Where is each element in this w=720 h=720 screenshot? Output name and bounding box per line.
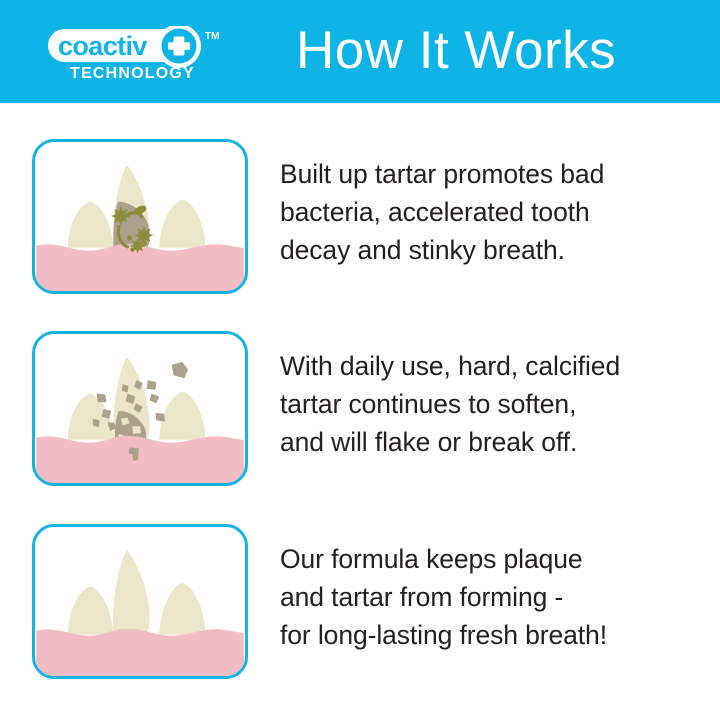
caption-line: tartar continues to soften, [280, 385, 692, 423]
step-row-1: Built up tartar promotes bad bacteria, a… [0, 133, 720, 301]
tartar-flake [155, 413, 165, 422]
page-title: How It Works [296, 18, 696, 84]
step-row-3: Our formula keeps plaque and tartar from… [0, 518, 720, 686]
illustration-panel-clean-teeth [32, 524, 248, 679]
step-caption-2: With daily use, hard, calcified tartar c… [280, 347, 692, 461]
caption-line: Built up tartar promotes bad [280, 155, 692, 193]
gum-tissue [36, 436, 244, 483]
step-caption-1: Built up tartar promotes bad bacteria, a… [280, 155, 692, 269]
logo-artwork: coactiv TM TECHNOLOGY [48, 26, 238, 82]
tooth-center [113, 550, 150, 642]
caption-line: for long-lasting fresh breath! [280, 616, 692, 654]
caption-line: and will flake or break off. [280, 423, 692, 461]
caption-line: decay and stinky breath. [280, 231, 692, 269]
tooth-left [68, 587, 113, 635]
gum-tissue [36, 244, 244, 291]
bacteria-dot-1 [127, 236, 132, 241]
bacteria-dot-2 [143, 242, 147, 246]
tartar-flake [147, 380, 157, 390]
tooth-right [159, 392, 205, 440]
tooth-with-tartar-bacteria-illustration [35, 142, 245, 291]
tooth-left [68, 202, 113, 248]
logo-trademark: TM [205, 31, 219, 42]
clean-teeth-illustration [35, 527, 245, 676]
plus-circle-icon [157, 26, 201, 68]
logo-subtitle: TECHNOLOGY [70, 65, 195, 82]
page-header: coactiv TM TECHNOLOGY How It Works [0, 0, 720, 103]
caption-line: bacteria, accelerated tooth [280, 193, 692, 231]
tartar-flake [97, 394, 107, 403]
tooth-right [159, 200, 205, 248]
illustration-panel-tartar-flaking [32, 331, 248, 486]
tartar-flaking-off-illustration [35, 334, 245, 483]
step-caption-3: Our formula keeps plaque and tartar from… [280, 540, 692, 654]
bacteria-dot-3 [130, 248, 134, 252]
gum-tissue [36, 629, 244, 676]
logo-wordmark: coactiv [58, 31, 147, 61]
tartar-flake [172, 362, 188, 378]
caption-line: Our formula keeps plaque [280, 540, 692, 578]
step-row-2: With daily use, hard, calcified tartar c… [0, 325, 720, 493]
caption-line: With daily use, hard, calcified [280, 347, 692, 385]
caption-line: and tartar from forming - [280, 578, 692, 616]
illustration-panel-tooth-with-tartar [32, 139, 248, 294]
tartar-flake [150, 394, 160, 404]
coactiv-technology-logo: coactiv TM TECHNOLOGY [48, 26, 238, 82]
tooth-right [159, 583, 205, 635]
